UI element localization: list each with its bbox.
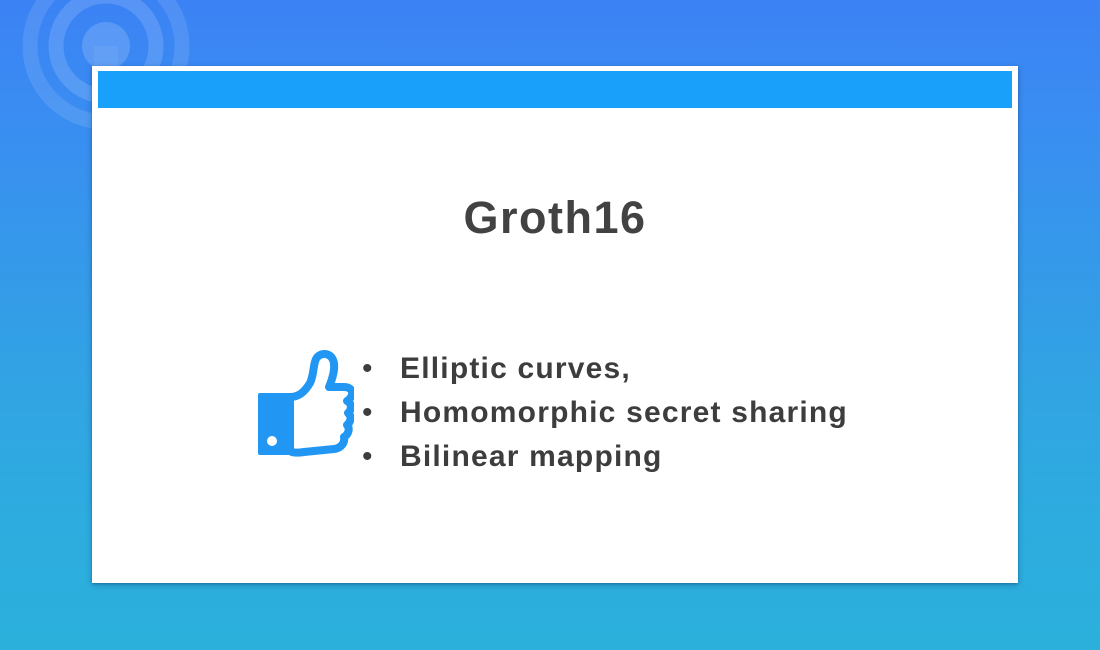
bullet-item: • Bilinear mapping xyxy=(362,435,848,479)
thumbs-up-hand xyxy=(290,354,352,453)
bullet-text: Elliptic curves, xyxy=(400,347,631,391)
bullet-text: Homomorphic secret sharing xyxy=(400,391,848,435)
bullet-list: • Elliptic curves, • Homomorphic secret … xyxy=(362,347,848,479)
slide-header-bar xyxy=(98,71,1012,108)
logo-inner-dot xyxy=(82,22,130,70)
bullet-item: • Homomorphic secret sharing xyxy=(362,391,848,435)
bullet-marker-icon: • xyxy=(362,435,400,479)
slide-body: • Elliptic curves, • Homomorphic secret … xyxy=(92,281,1018,481)
thumbs-up-cuff xyxy=(258,393,290,455)
slide-stage: Groth16 • Elliptic curves, xyxy=(0,0,1100,650)
thumbs-up-cuff-dot xyxy=(267,436,277,446)
bullet-text: Bilinear mapping xyxy=(400,435,663,479)
thumbs-up-icon xyxy=(258,349,354,461)
bullet-item: • Elliptic curves, xyxy=(362,347,848,391)
slide-card: Groth16 • Elliptic curves, xyxy=(92,66,1018,583)
slide-title: Groth16 xyxy=(92,193,1018,243)
bullet-marker-icon: • xyxy=(362,391,400,435)
bullet-marker-icon: • xyxy=(362,347,400,391)
